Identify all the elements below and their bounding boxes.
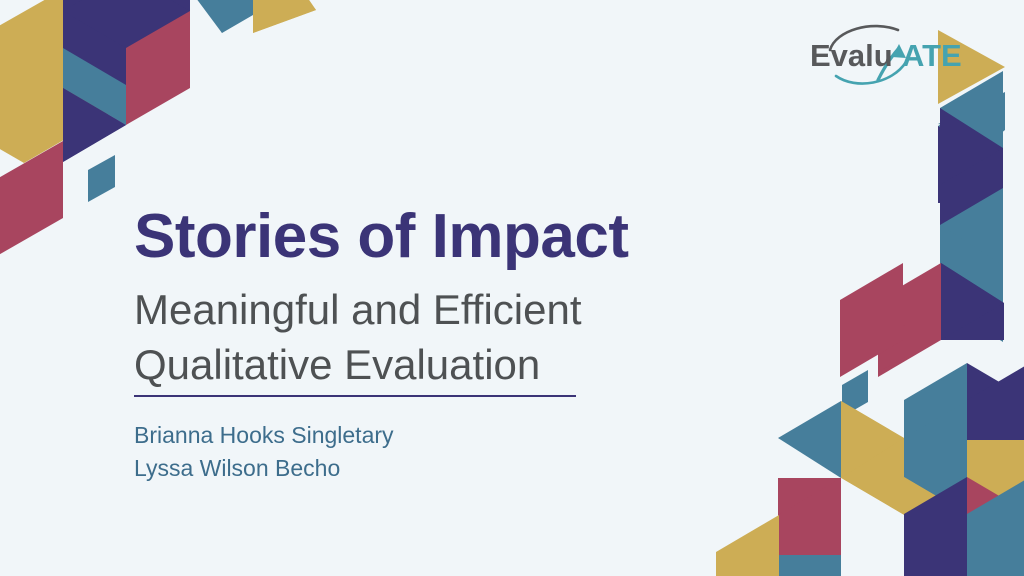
teal-wing-triangle	[778, 401, 841, 478]
indigo-triangle-right-upper	[938, 126, 1002, 203]
teal-triangle-right-upper	[938, 89, 1002, 166]
maroon-parallelogram-left	[0, 141, 63, 277]
teal-small-diamond-center	[842, 370, 868, 417]
author-name-2: Lyssa Wilson Becho	[134, 452, 734, 485]
title-divider-rule	[134, 395, 576, 397]
gold-triangle-right-lower	[967, 440, 1024, 514]
teal-triangle-top-point	[190, 0, 253, 33]
indigo-parallelogram-right-upper	[938, 126, 1002, 203]
gold-diamond-mid-lower	[904, 477, 967, 576]
indigo-wedge-column	[941, 263, 1004, 340]
logo-wordmark: Evalu ATE	[800, 24, 1000, 96]
page-subtitle: Meaningful and Efficient Qualitative Eva…	[134, 282, 654, 393]
indigo-diamond-bottom-center-2	[904, 477, 967, 576]
teal-small-parallelogram	[88, 155, 115, 202]
teal-tall-diamond-right	[904, 363, 967, 477]
teal-tall-diamond-right-2	[904, 401, 967, 515]
presentation-title-slide: Evalu ATE Stories of Impact Meaningful a…	[0, 0, 1024, 576]
maroon-band-bottom-slant	[778, 478, 841, 576]
indigo-diamond-column-1	[940, 108, 1003, 225]
gold-center-diamond	[841, 401, 904, 515]
logo-text-accent: ATE	[902, 38, 962, 73]
teal-diamond-column-2	[940, 188, 1003, 302]
gold-parallelogram-topleft	[0, 0, 126, 163]
teal-cube-left-face	[63, 11, 126, 125]
indigo-triangle-left-fill	[63, 88, 126, 162]
gold-diamond-mid-lower-2	[904, 477, 967, 551]
teal-triangle-top	[190, 0, 253, 33]
maroon-cube-right-face	[126, 11, 190, 125]
indigo-diamond-bottom-center	[904, 514, 967, 576]
maroon-diamond-column	[878, 263, 941, 377]
gold-center-diamond-2	[841, 401, 904, 478]
gold-diamond-top	[253, 0, 316, 33]
teal-cube-left-wedge	[63, 11, 126, 125]
indigo-diamond-column-2	[940, 148, 1003, 262]
title-text-block: Stories of Impact Meaningful and Efficie…	[134, 206, 734, 484]
teal-lower-right	[967, 514, 1024, 576]
author-list: Brianna Hooks Singletary Lyssa Wilson Be…	[134, 419, 734, 484]
page-title: Stories of Impact	[134, 206, 734, 268]
indigo-diamond-far-right-2	[967, 363, 1024, 477]
teal-lower-right-2	[967, 477, 1024, 576]
maroon-triangle-lower-right	[967, 477, 1024, 551]
subtitle-line-1: Meaningful and Efficient	[134, 286, 582, 333]
logo-text-primary: Evalu	[810, 38, 893, 73]
maroon-diamond-center	[840, 263, 903, 377]
teal-diamond-column-3	[940, 225, 1003, 342]
teal-wedge-upper-right	[938, 92, 1005, 134]
teal-sliver-bottom-2	[779, 555, 841, 576]
background-notch-bottom	[841, 478, 904, 576]
maroon-diamond-small-upper	[878, 325, 905, 372]
indigo-diamond-far-right	[967, 363, 1024, 477]
indigo-triangle-left	[63, 88, 126, 162]
evaluate-logo[interactable]: Evalu ATE	[800, 24, 1000, 96]
teal-sliver-bottom	[779, 555, 841, 576]
maroon-band-bottom	[778, 478, 841, 576]
gold-wedge-right	[967, 440, 1024, 514]
indigo-triangle-column	[941, 263, 1004, 340]
indigo-cube-top-face	[63, 0, 190, 85]
author-name-1: Brianna Hooks Singletary	[134, 419, 734, 452]
gold-band-bottom	[716, 515, 779, 576]
indigo-cube-top	[63, 0, 190, 48]
subtitle-line-2: Qualitative Evaluation	[134, 341, 540, 388]
gold-triangle-top-right	[253, 0, 316, 33]
